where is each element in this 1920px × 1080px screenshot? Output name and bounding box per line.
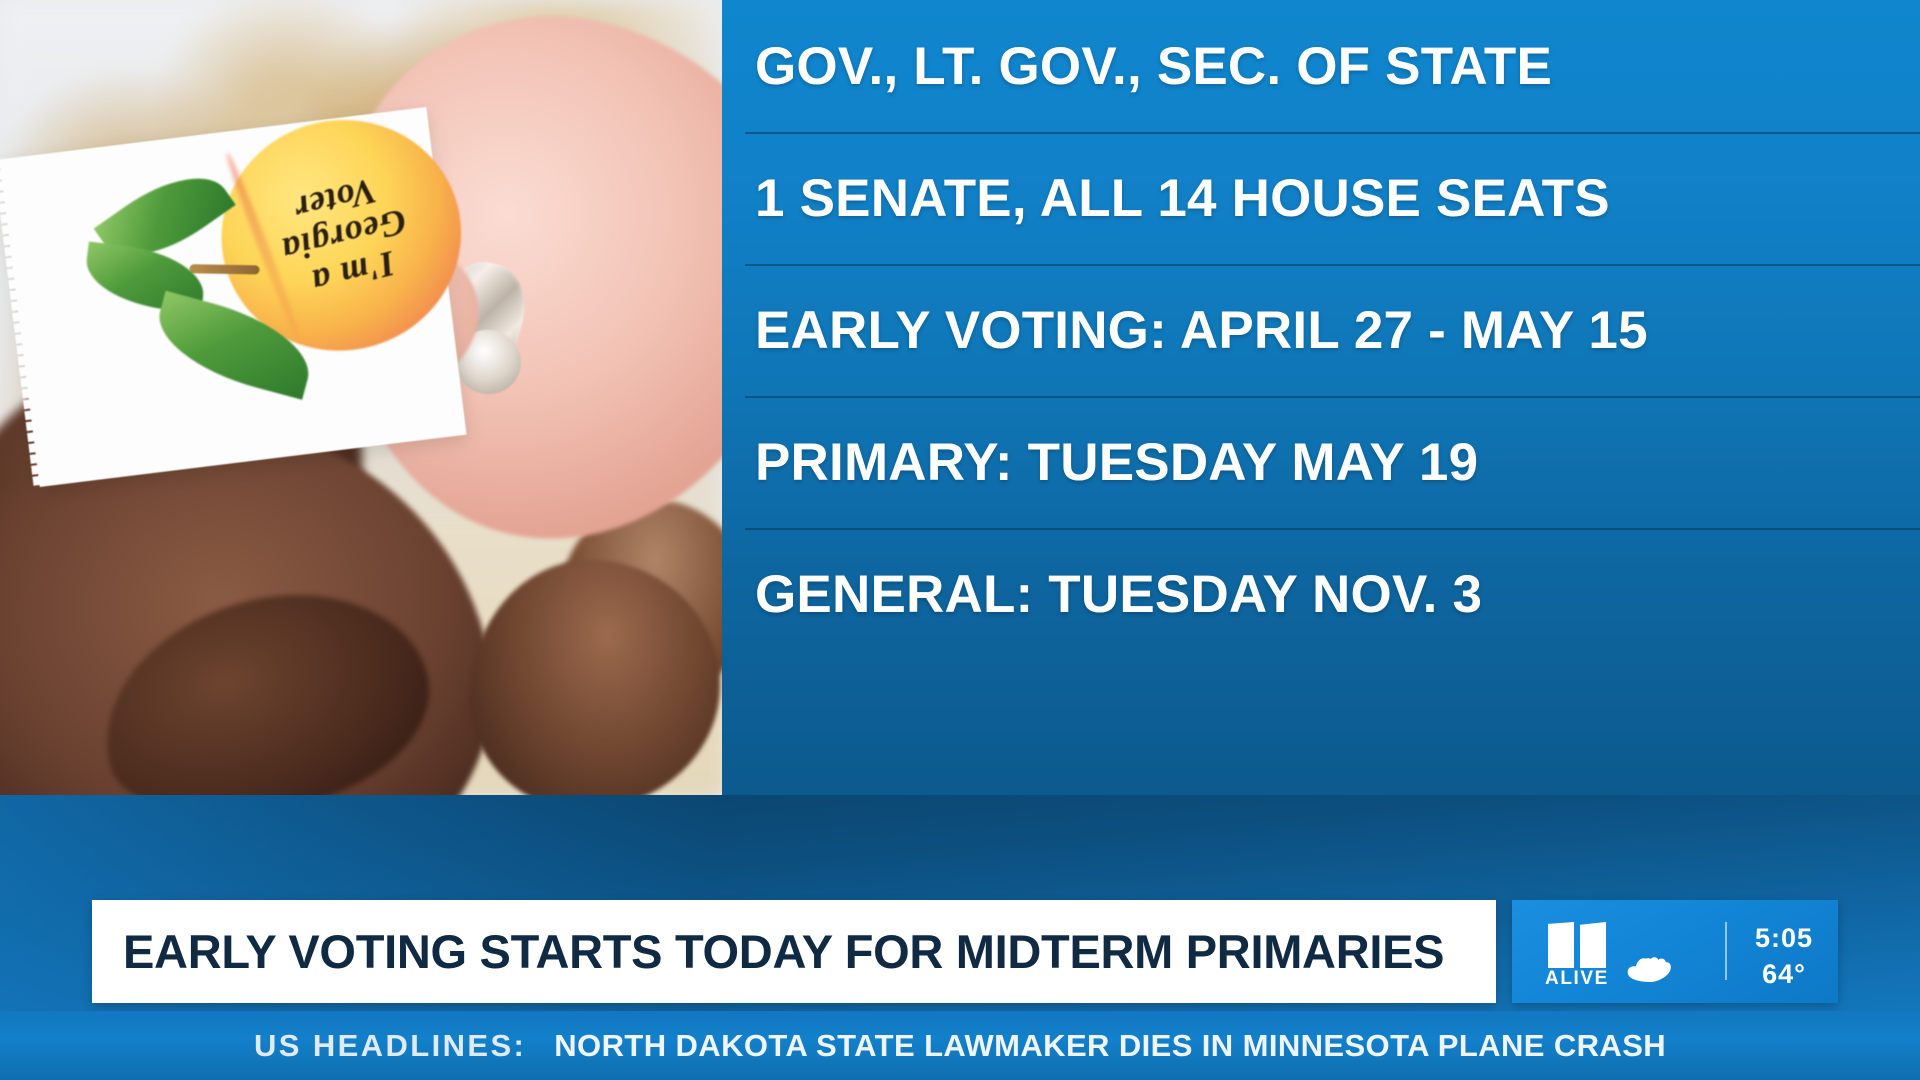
georgia-voter-sticker: I'm a Georgia Voter <box>0 107 467 487</box>
info-row-label: GENERAL: TUESDAY NOV. 3 <box>755 564 1482 625</box>
news-ticker: US HEADLINES: NORTH DAKOTA STATE LAWMAKE… <box>0 1011 1920 1080</box>
eleven-bar-right <box>1580 922 1606 968</box>
info-row-label: GOV., LT. GOV., SEC. OF STATE <box>755 36 1552 97</box>
time-temp-readout: 5:05 64° <box>1743 920 1825 993</box>
info-row-label: 1 SENATE, ALL 14 HOUSE SEATS <box>755 168 1610 229</box>
broadcast-screen: I'm a Georgia Voter GOV., LT. GOV., SEC.… <box>0 0 1920 1080</box>
info-row-label: EARLY VOTING: APRIL 27 - MAY 15 <box>755 300 1648 361</box>
alive-wordmark: ALIVE <box>1545 968 1609 990</box>
eleven-bar-left <box>1548 922 1574 968</box>
peach-stem <box>189 264 259 274</box>
headline-banner: EARLY VOTING STARTS TODAY FOR MIDTERM PR… <box>92 900 1496 1003</box>
info-row: GOV., LT. GOV., SEC. OF STATE <box>722 0 1920 132</box>
temperature-value: 64° <box>1743 956 1825 992</box>
voter-sticker-photo: I'm a Georgia Voter <box>0 0 722 795</box>
info-row: GENERAL: TUESDAY NOV. 3 <box>722 528 1920 660</box>
top-graphic-block: I'm a Georgia Voter GOV., LT. GOV., SEC.… <box>0 0 1920 795</box>
info-row: EARLY VOTING: APRIL 27 - MAY 15 <box>722 264 1920 396</box>
station-brand: ALIVE 5:05 64° <box>1512 900 1707 1003</box>
info-row: 1 SENATE, ALL 14 HOUSE SEATS <box>722 132 1920 264</box>
logo-divider <box>1725 922 1727 980</box>
info-row-label: PRIMARY: TUESDAY MAY 19 <box>755 432 1478 493</box>
election-info-panel: GOV., LT. GOV., SEC. OF STATE 1 SENATE, … <box>722 0 1920 795</box>
ticker-text: NORTH DAKOTA STATE LAWMAKER DIES IN MINN… <box>554 1028 1666 1064</box>
ticker-label: US HEADLINES: <box>254 1028 526 1064</box>
info-row: PRIMARY: TUESDAY MAY 19 <box>722 396 1920 528</box>
nbc-peacock-icon <box>1620 944 1682 984</box>
election-info-rows: GOV., LT. GOV., SEC. OF STATE 1 SENATE, … <box>722 0 1920 660</box>
clock-time: 5:05 <box>1743 920 1825 956</box>
station-logo-block: ALIVE 5:05 64° <box>1512 900 1838 1003</box>
eleven-logo-icon <box>1548 922 1610 968</box>
headline-text: EARLY VOTING STARTS TODAY FOR MIDTERM PR… <box>92 924 1444 979</box>
